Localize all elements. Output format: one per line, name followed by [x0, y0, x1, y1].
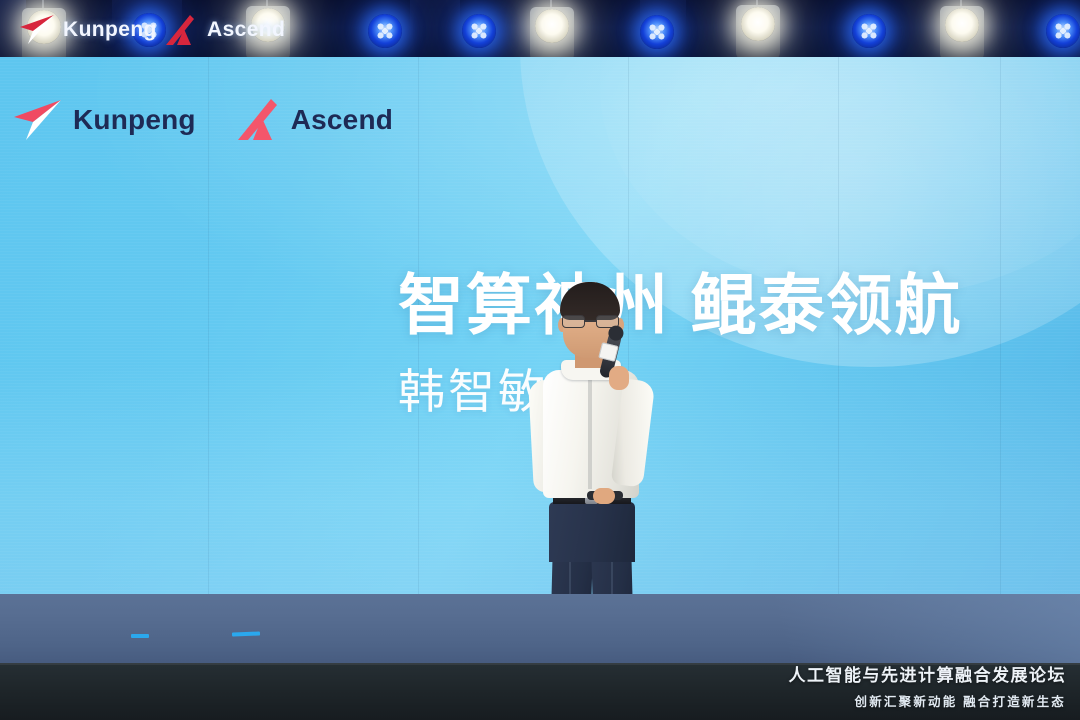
blue-led-par-light	[640, 15, 674, 49]
venue-backdrop-wall: Kunpeng Ascend	[0, 0, 1080, 60]
stage-floor-sheen	[660, 594, 1080, 668]
forum-watermark: 人工智能与先进计算融合发展论坛 创新汇聚新动能 融合打造新生态	[789, 661, 1067, 710]
floor-marking-tape	[232, 632, 260, 637]
presenter-hand-left	[593, 488, 615, 504]
white-moving-head-spotlight	[736, 5, 780, 60]
slide-logo-lockup: Kunpeng Ascend	[8, 97, 393, 143]
wall-logo-kunpeng-word: Kunpeng	[63, 18, 157, 42]
presenter-shirt-placket	[588, 377, 592, 489]
slide-logo-ascend-word: Ascend	[291, 104, 393, 136]
presenter-hand-right	[609, 366, 629, 390]
kunpeng-bird-mark	[8, 97, 64, 143]
slide-logo-ascend: Ascend	[232, 97, 393, 143]
blue-led-par-light	[1046, 14, 1080, 48]
white-moving-head-spotlight	[530, 7, 574, 60]
stage-floor	[0, 594, 1080, 668]
presenter-trousers	[549, 502, 635, 562]
wall-logo-ascend-word: Ascend	[207, 18, 285, 42]
forum-watermark-subtitle: 创新汇聚新动能 融合打造新生态	[789, 691, 1067, 710]
white-moving-head-spotlight	[940, 6, 984, 60]
ascend-a-mark	[160, 14, 200, 46]
wall-logo-ascend: Ascend	[160, 14, 285, 46]
wall-logo-kunpeng: Kunpeng	[14, 14, 157, 46]
slide-logo-kunpeng: Kunpeng	[8, 97, 196, 143]
slide-title: 智算神州 鲲泰领航	[398, 271, 962, 341]
conference-stage-photo: Kunpeng Ascend Kunpeng	[0, 0, 1080, 720]
blue-led-par-light	[462, 14, 496, 48]
forum-watermark-title: 人工智能与先进计算融合发展论坛	[789, 661, 1067, 686]
slide-title-block: 智算神州 鲲泰领航 韩智敏	[398, 271, 962, 422]
ascend-a-mark	[232, 97, 282, 143]
kunpeng-bird-mark	[14, 14, 56, 46]
blue-led-par-light	[368, 14, 402, 48]
blue-led-par-light	[852, 14, 886, 48]
slide-logo-kunpeng-word: Kunpeng	[73, 104, 196, 136]
slide-speaker-name: 韩智敏	[398, 353, 962, 422]
floor-marking-tape	[131, 634, 149, 638]
